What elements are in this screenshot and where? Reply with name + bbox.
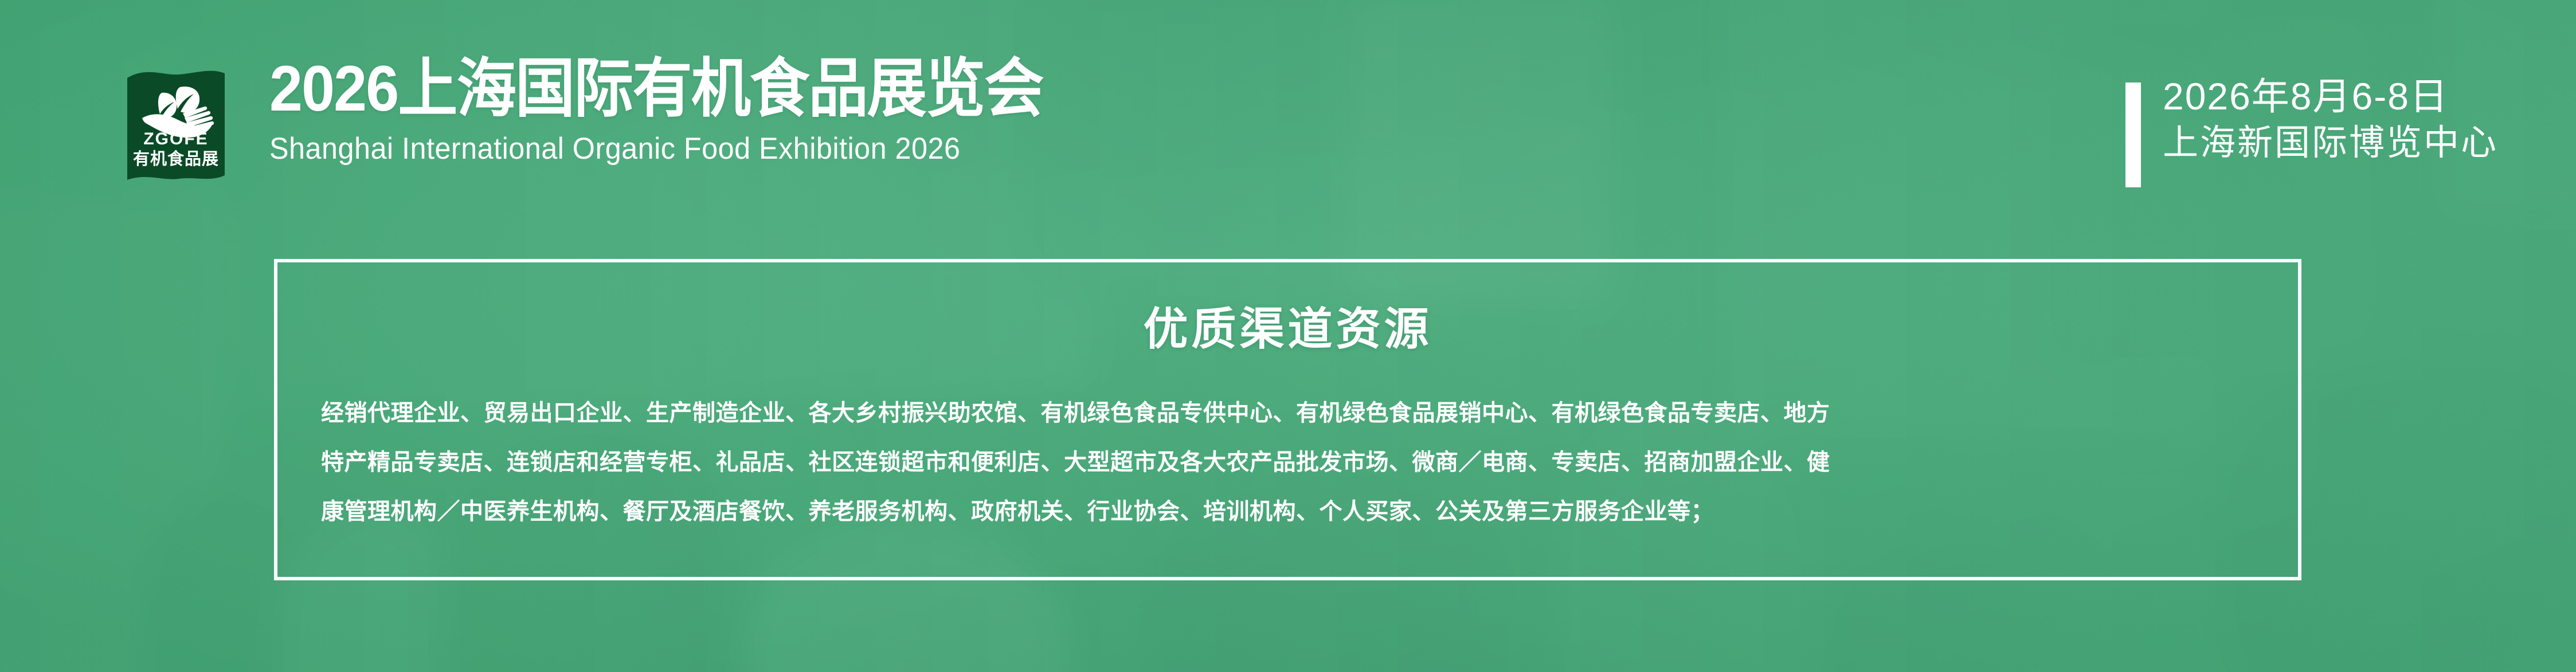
panel-body-line: 经销代理企业、贸易出口企业、生产制造企业、各大乡村振兴助农馆、有机绿色食品专供中… xyxy=(321,388,2254,438)
panel-body-line: 康管理机构／中医养生机构、餐厅及酒店餐饮、养老服务机构、政府机关、行业协会、培训… xyxy=(321,487,2254,536)
logo-chinese-name: 有机食品展 xyxy=(127,151,225,168)
panel-body-line: 特产精品专卖店、连锁店和经营专柜、礼品店、社区连锁超市和便利店、大型超市及各大农… xyxy=(321,438,2254,487)
exhibition-title-en: Shanghai International Organic Food Exhi… xyxy=(269,131,1277,166)
logo-wordmark: ZGOFE xyxy=(127,131,225,148)
exhibition-title-cn: 2026上海国际有机食品展览会 xyxy=(269,55,1256,123)
vertical-accent-bar xyxy=(2125,82,2141,187)
date-venue-block: 2026年8月6-8日 上海新国际博览中心 xyxy=(2125,72,2498,187)
exhibition-banner: ZGOFE 有机食品展 2026上海国际有机食品展览会 Shanghai Int… xyxy=(0,0,2576,672)
exhibition-date: 2026年8月6-8日 xyxy=(2163,72,2498,120)
panel-body: 经销代理企业、贸易出口企业、生产制造企业、各大乡村振兴助农馆、有机绿色食品专供中… xyxy=(321,388,2254,536)
exhibition-venue: 上海新国际博览中心 xyxy=(2163,120,2498,166)
zgofe-logo: ZGOFE 有机食品展 xyxy=(127,70,225,183)
title-block: 2026上海国际有机食品展览会 Shanghai International O… xyxy=(269,55,1330,166)
panel-heading: 优质渠道资源 xyxy=(277,293,2298,357)
channel-resources-panel: 优质渠道资源 经销代理企业、贸易出口企业、生产制造企业、各大乡村振兴助农馆、有机… xyxy=(274,259,2301,580)
